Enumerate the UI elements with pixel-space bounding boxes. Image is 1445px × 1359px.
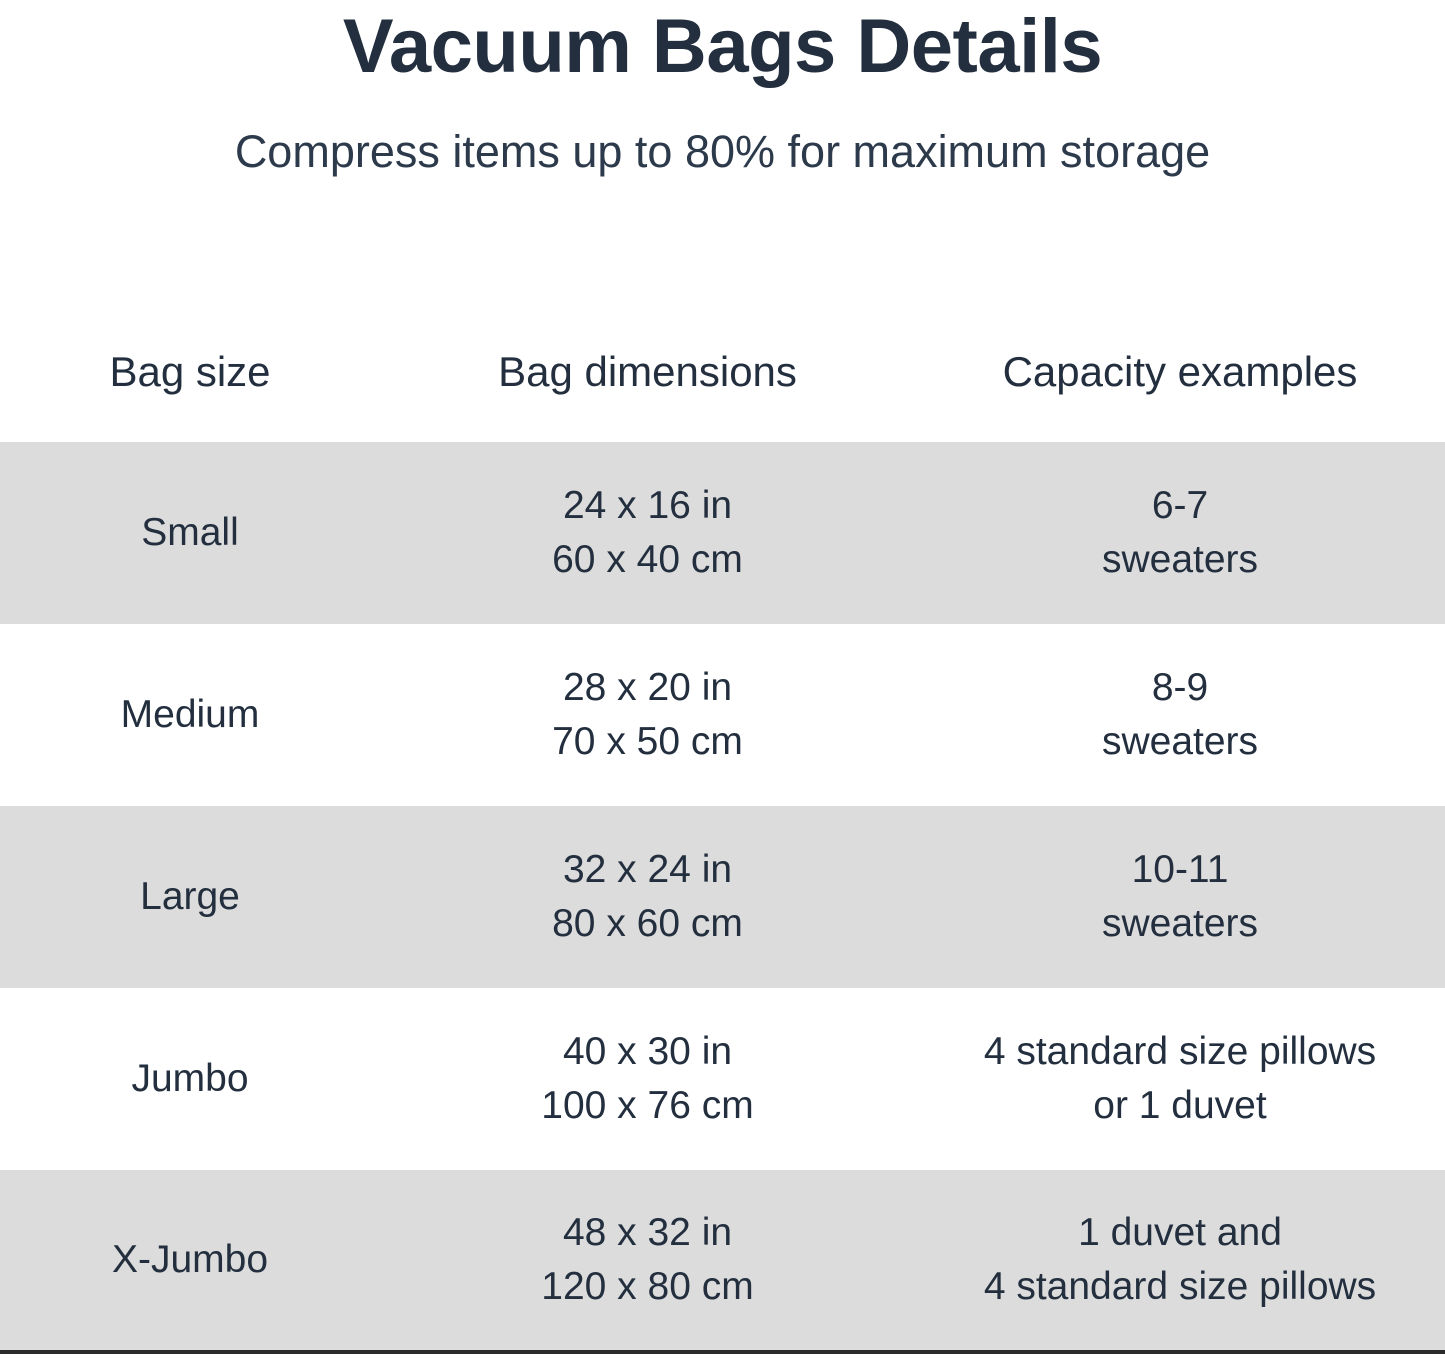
table-row: Medium 28 x 20 in 70 x 50 cm 8-9 sweater… xyxy=(0,624,1445,806)
dimensions-inches: 24 x 16 in xyxy=(390,482,905,530)
capacity-line-1: 10-11 xyxy=(925,846,1435,894)
table-row: Jumbo 40 x 30 in 100 x 76 cm 4 standard … xyxy=(0,988,1445,1170)
column-header-bag-size: Bag size xyxy=(0,348,380,442)
capacity-line-2: sweaters xyxy=(925,718,1435,766)
capacity-line-1: 6-7 xyxy=(925,482,1435,530)
cell-bag-size: Medium xyxy=(0,624,380,806)
cell-bag-size: Jumbo xyxy=(0,988,380,1170)
dimensions-centimeters: 60 x 40 cm xyxy=(390,536,905,584)
capacity-line-2: sweaters xyxy=(925,900,1435,948)
cell-bag-size: X-Jumbo xyxy=(0,1170,380,1352)
cell-bag-size: Small xyxy=(0,442,380,624)
table-row: Large 32 x 24 in 80 x 60 cm 10-11 sweate… xyxy=(0,806,1445,988)
cell-capacity-examples: 8-9 sweaters xyxy=(915,624,1445,806)
dimensions-inches: 32 x 24 in xyxy=(390,846,905,894)
dimensions-centimeters: 70 x 50 cm xyxy=(390,718,905,766)
column-header-capacity-examples: Capacity examples xyxy=(915,348,1445,442)
dimensions-centimeters: 120 x 80 cm xyxy=(390,1263,905,1311)
column-header-bag-dimensions: Bag dimensions xyxy=(380,348,915,442)
cell-bag-dimensions: 40 x 30 in 100 x 76 cm xyxy=(380,988,915,1170)
capacity-line-1: 4 standard size pillows xyxy=(925,1028,1435,1076)
dimensions-inches: 28 x 20 in xyxy=(390,664,905,712)
capacity-line-2: 4 standard size pillows xyxy=(925,1263,1435,1311)
capacity-line-1: 1 duvet and xyxy=(925,1209,1435,1257)
table-header: Bag size Bag dimensions Capacity example… xyxy=(0,348,1445,442)
cell-bag-dimensions: 32 x 24 in 80 x 60 cm xyxy=(380,806,915,988)
dimensions-inches: 40 x 30 in xyxy=(390,1028,905,1076)
vacuum-bags-details-page: Vacuum Bags Details Compress items up to… xyxy=(0,0,1445,1359)
cell-capacity-examples: 1 duvet and 4 standard size pillows xyxy=(915,1170,1445,1352)
cell-capacity-examples: 6-7 sweaters xyxy=(915,442,1445,624)
table-row: X-Jumbo 48 x 32 in 120 x 80 cm 1 duvet a… xyxy=(0,1170,1445,1352)
table-row: Small 24 x 16 in 60 x 40 cm 6-7 sweaters xyxy=(0,442,1445,624)
table-body: Small 24 x 16 in 60 x 40 cm 6-7 sweaters… xyxy=(0,442,1445,1352)
cell-bag-size: Large xyxy=(0,806,380,988)
dimensions-centimeters: 80 x 60 cm xyxy=(390,900,905,948)
cell-bag-dimensions: 24 x 16 in 60 x 40 cm xyxy=(380,442,915,624)
bag-specs-table: Bag size Bag dimensions Capacity example… xyxy=(0,348,1445,1354)
dimensions-inches: 48 x 32 in xyxy=(390,1209,905,1257)
header-block: Vacuum Bags Details Compress items up to… xyxy=(0,0,1445,178)
capacity-line-2: or 1 duvet xyxy=(925,1082,1435,1130)
page-title: Vacuum Bags Details xyxy=(0,6,1445,88)
cell-capacity-examples: 4 standard size pillows or 1 duvet xyxy=(915,988,1445,1170)
dimensions-centimeters: 100 x 76 cm xyxy=(390,1082,905,1130)
cell-bag-dimensions: 28 x 20 in 70 x 50 cm xyxy=(380,624,915,806)
capacity-line-2: sweaters xyxy=(925,536,1435,584)
cell-bag-dimensions: 48 x 32 in 120 x 80 cm xyxy=(380,1170,915,1352)
cell-capacity-examples: 10-11 sweaters xyxy=(915,806,1445,988)
capacity-line-1: 8-9 xyxy=(925,664,1435,712)
page-subtitle: Compress items up to 80% for maximum sto… xyxy=(0,88,1445,178)
table-header-row: Bag size Bag dimensions Capacity example… xyxy=(0,348,1445,442)
